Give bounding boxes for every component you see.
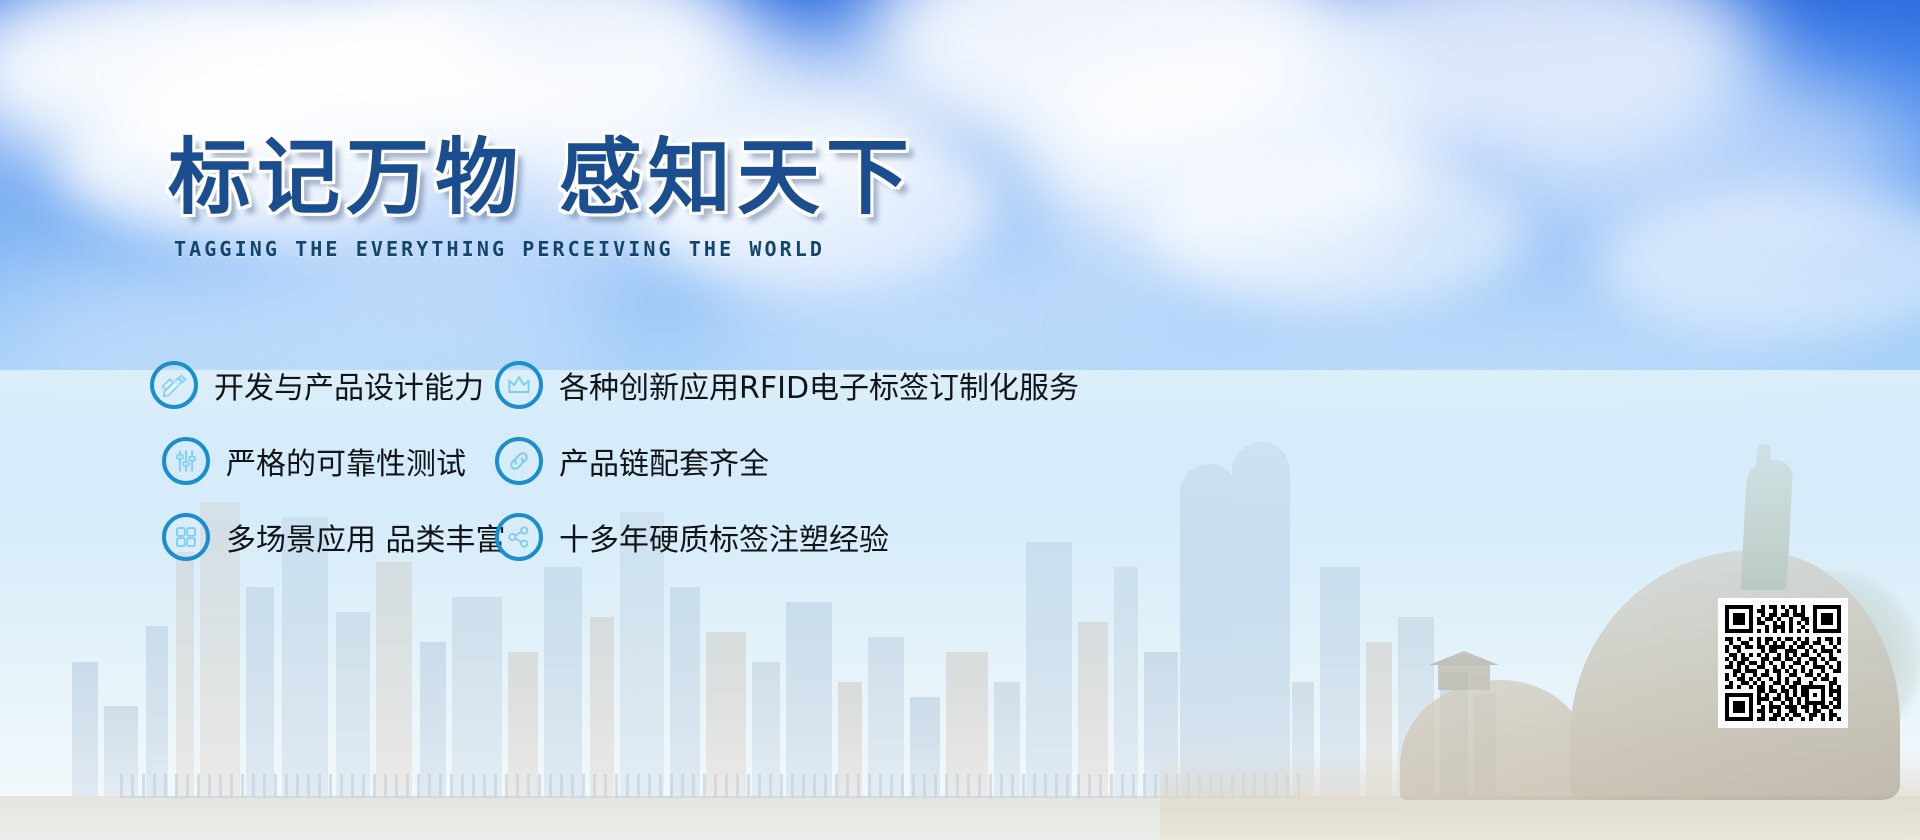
- small-rock: [1400, 680, 1590, 800]
- feature-label: 严格的可靠性测试: [226, 439, 466, 483]
- feature-label: 十多年硬质标签注塑经验: [559, 515, 889, 559]
- feature-label: 各种创新应用RFID电子标签订制化服务: [559, 363, 1079, 407]
- feature-row: 严格的可靠性测试 产品链配套齐全: [150, 426, 1300, 496]
- feature-column-right: 产品链配套齐全: [495, 426, 769, 496]
- feature-column-left: 严格的可靠性测试: [150, 426, 495, 496]
- feature-item-scenarios[interactable]: 多场景应用 品类丰富: [162, 513, 506, 561]
- feature-item-development[interactable]: 开发与产品设计能力: [150, 361, 484, 409]
- pencil-ruler-icon: [150, 361, 198, 409]
- feature-column-right: 各种创新应用RFID电子标签订制化服务: [495, 350, 1079, 420]
- feature-label: 开发与产品设计能力: [214, 363, 484, 407]
- feature-label: 多场景应用 品类丰富: [226, 515, 506, 559]
- feature-item-rfid-service[interactable]: 各种创新应用RFID电子标签订制化服务: [495, 361, 1079, 409]
- feature-item-reliability-test[interactable]: 严格的可靠性测试: [162, 437, 466, 485]
- statue: [1741, 460, 1794, 590]
- feature-column-left: 多场景应用 品类丰富: [150, 502, 495, 572]
- qr-code-container[interactable]: [1718, 598, 1848, 728]
- feature-row: 多场景应用 品类丰富: [150, 502, 1300, 572]
- crown-icon: [495, 361, 543, 409]
- feature-label: 产品链配套齐全: [559, 439, 769, 483]
- banner-root: 标记万物 感知天下 TAGGING THE EVERYTHING PERCEIV…: [0, 0, 1920, 840]
- grid-squares-icon: [162, 513, 210, 561]
- qr-code: [1725, 605, 1841, 721]
- feature-row: 开发与产品设计能力 各种创新应用RFID电子标签订制化服务: [150, 350, 1300, 420]
- pavilion: [1438, 664, 1490, 690]
- link-chain-icon: [495, 437, 543, 485]
- feature-column-left: 开发与产品设计能力: [150, 350, 495, 420]
- feature-column-right: 十多年硬质标签注塑经验: [495, 502, 889, 572]
- share-network-icon: [495, 513, 543, 561]
- sub-title: TAGGING THE EVERYTHING PERCEIVING THE WO…: [174, 237, 1068, 261]
- title-block: 标记万物 感知天下 TAGGING THE EVERYTHING PERCEIV…: [168, 136, 1068, 261]
- sliders-icon: [162, 437, 210, 485]
- feature-item-molding-experience[interactable]: 十多年硬质标签注塑经验: [495, 513, 889, 561]
- feature-list: 开发与产品设计能力 各种创新应用RFID电子标签订制化服务: [150, 350, 1300, 572]
- feature-item-product-chain[interactable]: 产品链配套齐全: [495, 437, 769, 485]
- main-title: 标记万物 感知天下: [168, 136, 1068, 219]
